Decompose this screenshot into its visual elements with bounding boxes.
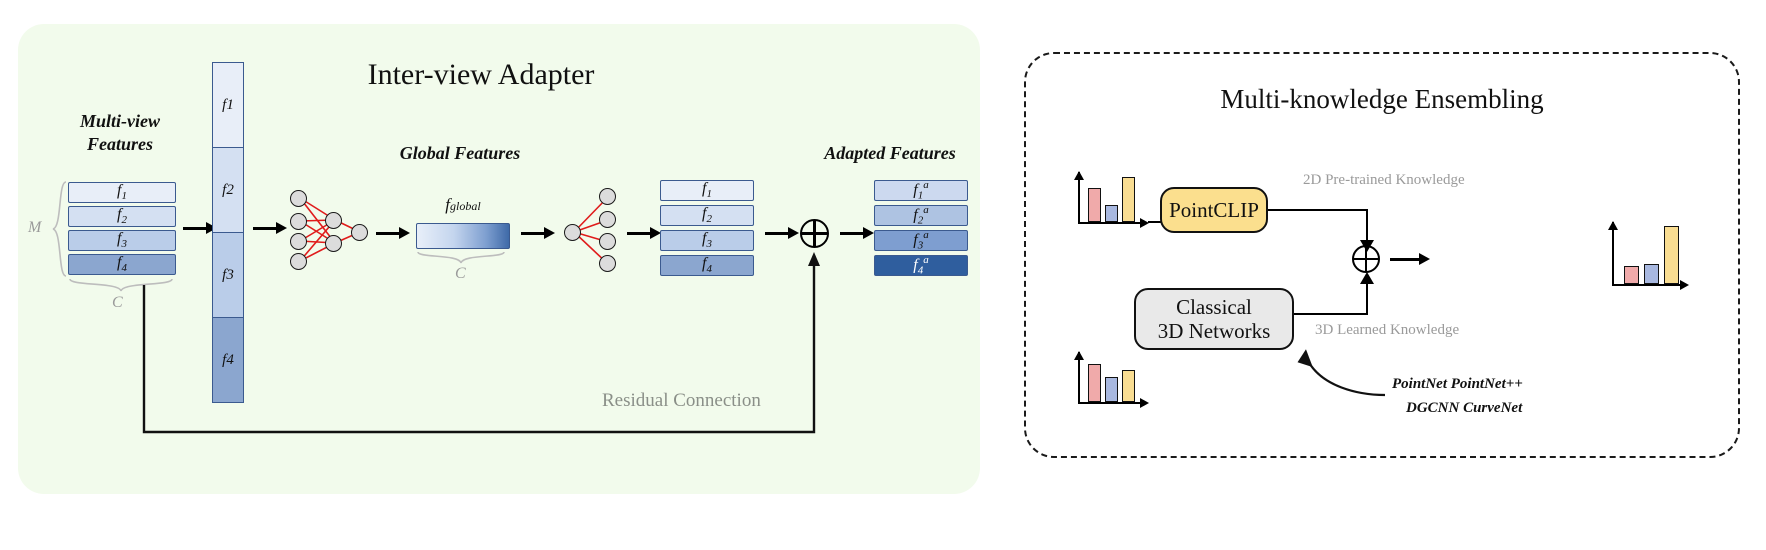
c-input-dimension-label: C [112,294,123,312]
classical-line-1: Classical [1176,295,1252,319]
pointclip-input-chart [1078,168,1150,224]
bar-3 [1664,226,1679,284]
figure-root: Inter-view Adapter Multi-view Features f… [0,0,1766,550]
label-3d-learned-knowledge: 3D Learned Knowledge [1315,322,1459,339]
adapted-feature-box-4: f4a [874,255,968,276]
encoder-neuron-hid-1 [325,212,342,229]
encoder-neuron-out [351,224,368,241]
adapted-feature-label-2: f2a [913,204,928,227]
ensemble-sum-icon [1352,245,1380,273]
residual-connection-label: Residual Connection [602,390,761,412]
decoded-sub-3: 3 [706,239,712,251]
bar-2 [1105,377,1118,402]
adapted-sup-2: a [923,204,929,216]
concat-sub-2: 2 [226,182,234,198]
adapted-feature-box-1: f1a [874,180,968,201]
arrow-to-decoded [627,227,661,239]
bar-1 [1088,188,1101,222]
decoder-neuron-out-2 [599,211,616,228]
network-names-pointer-icon [1285,345,1395,401]
adapted-sub-2: 2 [918,215,924,227]
adapted-sup-1: a [923,179,929,191]
decoder-neuron-out-1 [599,188,616,205]
network-names-line-2: DGCNN CurveNet [1406,400,1522,417]
ensembled-output-chart [1612,218,1690,286]
encoder-neuron-in-1 [290,190,307,207]
adapted-sub-1: 1 [918,190,924,202]
m-dimension-label: M [28,219,41,237]
adapted-features-caption: Adapted Features [800,142,980,165]
multi-knowledge-ensembling-title: Multi-knowledge Ensembling [1024,84,1740,115]
arrow-to-adapted [840,227,874,239]
decoded-feature-box-3: f3 [660,230,754,251]
decoded-feature-label-1: f1 [702,180,712,200]
classical-input-chart [1078,348,1150,404]
adapted-sub-3: 3 [918,240,924,252]
classical-3d-networks-box[interactable]: Classical 3D Networks [1134,288,1294,350]
arrow-to-encoder [253,222,287,234]
pointclip-out-line-v [1366,209,1368,242]
decoded-feature-box-1: f1 [660,180,754,201]
decoded-sub-2: 2 [706,214,712,226]
arrow-to-decoder [521,227,555,239]
classical-out-line-v [1366,283,1368,315]
input-feature-box-2: f2 [68,206,176,227]
concat-cell-1: f1 [212,62,244,148]
f-global-label: fglobal [418,195,508,215]
inter-view-adapter-title: Inter-view Adapter [0,58,962,92]
arrow-to-global [376,227,410,239]
concat-label-2: f2 [222,182,234,199]
concat-sub-1: 1 [226,97,234,113]
input-feature-label-1: f1 [117,182,127,202]
arrow-sum-to-output [1390,253,1430,265]
input-feature-sub-2: 2 [121,215,127,227]
input-feature-sub-1: 1 [121,191,127,203]
bar-2 [1644,264,1659,284]
concat-label-1: f1 [222,97,234,114]
input-feature-label-2: f2 [117,206,127,226]
decoded-feature-label-3: f3 [702,230,712,250]
decoder-neuron-out-3 [599,233,616,250]
f-global-sub: global [450,199,481,213]
adapted-feature-label-3: f3a [913,229,928,252]
classical-line-2: 3D Networks [1158,319,1271,343]
input-feature-label-4: f4 [117,254,127,274]
multi-view-features-caption-line1: Multi-view [40,110,200,133]
adapted-feature-box-2: f2a [874,205,968,226]
pointclip-out-line-h [1268,209,1368,211]
input-feature-sub-4: 4 [121,263,127,275]
bar-3 [1122,370,1135,402]
encoder-neuron-in-3 [290,233,307,250]
bar-1 [1088,364,1101,402]
input-feature-label-3: f3 [117,230,127,250]
classical-out-arrowhead [1360,272,1374,284]
adapted-sub-4: 4 [918,265,924,277]
decoded-feature-label-2: f2 [702,205,712,225]
residual-connection-path [130,250,830,465]
pointclip-box[interactable]: PointCLIP [1160,187,1268,233]
bar-1 [1624,266,1639,284]
input-feature-box-1: f1 [68,182,176,203]
network-names-line-1: PointNet PointNet++ [1392,376,1523,393]
global-feature-bar [416,223,510,249]
adapted-sup-4: a [923,254,929,266]
input-feature-sub-3: 3 [121,239,127,251]
classical-out-line-h [1294,313,1368,315]
classical-3d-networks-label: Classical 3D Networks [1158,295,1271,343]
adapted-feature-box-3: f3a [874,230,968,251]
bar-3 [1122,177,1135,222]
decoded-sub-1: 1 [706,189,712,201]
arrow-to-sum [765,227,799,239]
residual-sum-icon [800,219,829,248]
decoded-feature-box-2: f2 [660,205,754,226]
decoder-neuron-in [564,224,581,241]
adapted-feature-label-1: f1a [913,179,928,202]
multi-view-features-caption-line2: Features [40,133,200,156]
adapted-feature-label-4: f4a [913,254,928,277]
encoder-neuron-in-2 [290,213,307,230]
m-brace-icon [50,180,68,278]
global-features-caption: Global Features [380,142,540,165]
adapted-sup-3: a [923,229,929,241]
input-feature-box-3: f3 [68,230,176,251]
label-2d-pretrained-knowledge: 2D Pre-trained Knowledge [1303,172,1465,189]
bar-2 [1105,205,1118,222]
concat-cell-2: f2 [212,147,244,233]
